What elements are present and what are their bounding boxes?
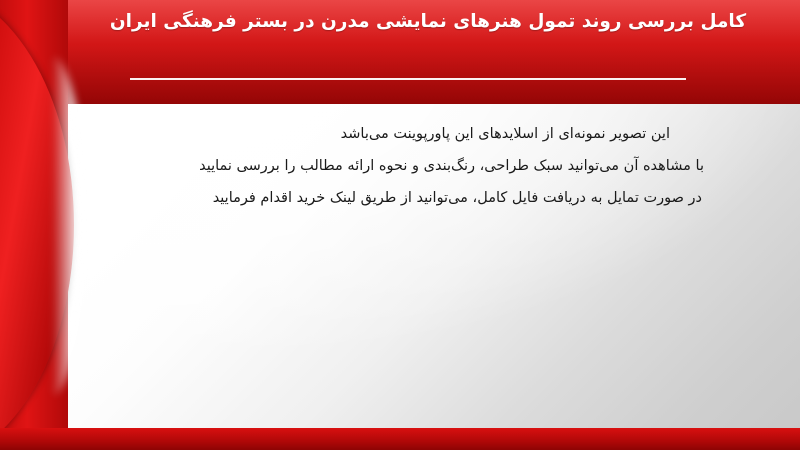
title-underline-rule [130, 78, 686, 80]
body-line-1: این تصویر نمونه‌ای از اسلایدهای این پاور… [104, 118, 670, 150]
slide-canvas: کامل بررسی روند تمول هنرهای نمایشی مدرن … [0, 0, 800, 450]
body-line-2: با مشاهده آن می‌توانید سبک طراحی، رنگ‌بن… [104, 150, 704, 182]
bottom-red-bar [0, 428, 800, 450]
slide-title: کامل بررسی روند تمول هنرهای نمایشی مدرن … [70, 8, 786, 37]
body-line-3: در صورت تمایل به دریافت فایل کامل، می‌تو… [104, 182, 702, 214]
body-text-block: این تصویر نمونه‌ای از اسلایدهای این پاور… [104, 118, 704, 215]
title-block: کامل بررسی روند تمول هنرهای نمایشی مدرن … [70, 8, 786, 37]
